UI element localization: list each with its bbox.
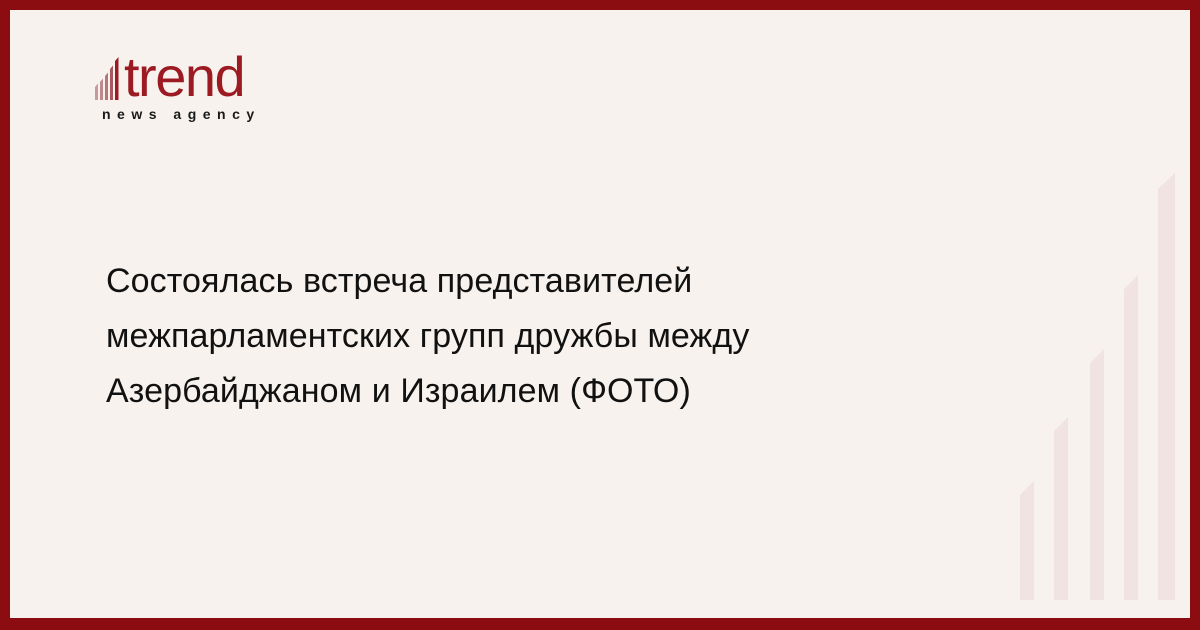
logo-wordmark-text: trend	[124, 54, 244, 100]
logo-tagline: news agency	[102, 106, 325, 122]
page-title: Состоялась встреча представителей межпар…	[106, 254, 866, 419]
bar-chart-mark-icon	[95, 54, 123, 100]
logo-wordmark-row: trend	[95, 48, 325, 100]
card-canvas: trend news agency Состоялась встреча пре…	[10, 10, 1190, 618]
brand-logo[interactable]: trend news agency	[95, 48, 325, 122]
bar-chart-watermark-icon	[1020, 165, 1180, 600]
share-card: trend news agency Состоялась встреча пре…	[0, 0, 1200, 630]
